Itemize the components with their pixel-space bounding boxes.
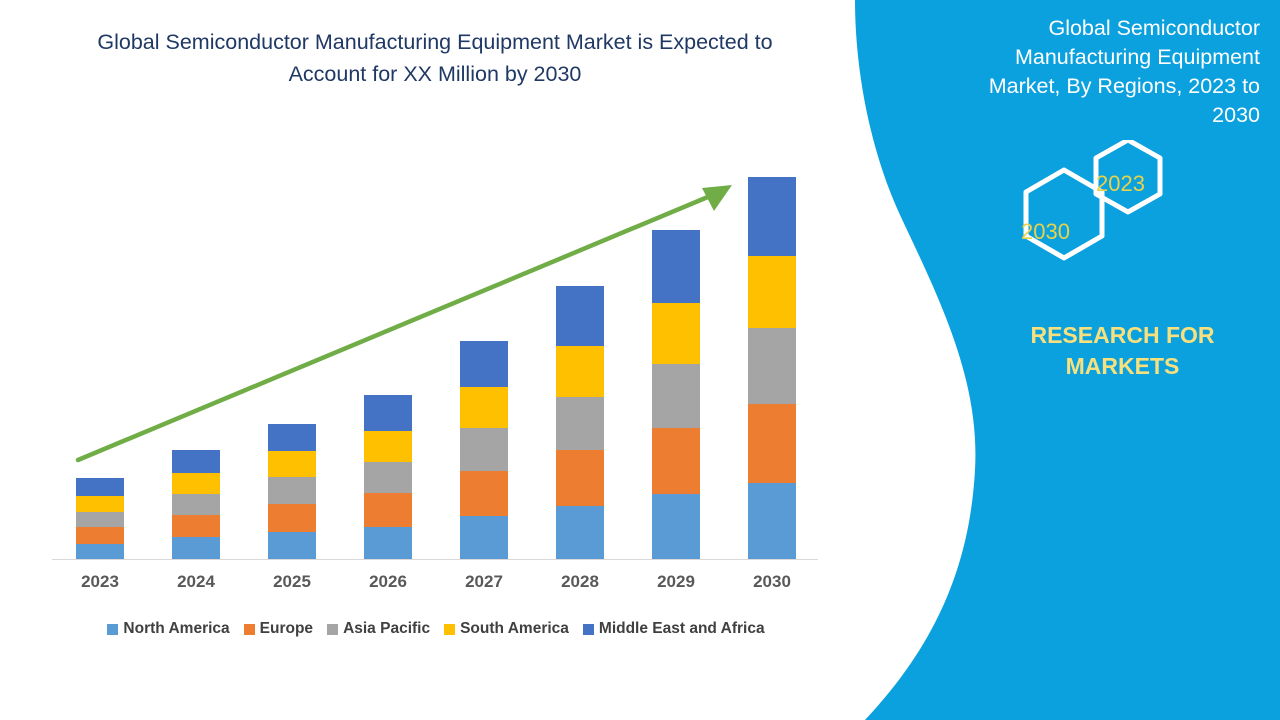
x-axis-labels: 20232024202520262027202820292030 (52, 572, 820, 600)
bar-segment[interactable] (268, 504, 316, 533)
bar-segment[interactable] (76, 527, 124, 543)
legend-item[interactable]: Europe (244, 620, 313, 638)
legend-item[interactable]: Middle East and Africa (583, 620, 765, 638)
bar-2027[interactable] (460, 341, 508, 560)
bar-segment[interactable] (364, 493, 412, 527)
bar-2023[interactable] (76, 478, 124, 560)
stacked-bar-chart (52, 150, 820, 560)
bar-segment[interactable] (268, 532, 316, 560)
bar-segment[interactable] (172, 494, 220, 515)
chart-legend: North AmericaEuropeAsia PacificSouth Ame… (52, 617, 820, 641)
bar-segment[interactable] (76, 496, 124, 511)
bar-segment[interactable] (460, 516, 508, 560)
bar-segment[interactable] (652, 230, 700, 303)
bar-segment[interactable] (460, 428, 508, 471)
bar-segment[interactable] (460, 341, 508, 387)
bar-segment[interactable] (748, 328, 796, 404)
x-axis-label-2028: 2028 (532, 572, 628, 592)
bar-segment[interactable] (76, 544, 124, 560)
bar-2026[interactable] (364, 395, 412, 560)
bar-2028[interactable] (556, 286, 604, 560)
hexagon-badges: 2030 2023 (980, 140, 1210, 300)
bar-segment[interactable] (556, 450, 604, 505)
legend-label: Middle East and Africa (599, 620, 765, 638)
bar-2025[interactable] (268, 424, 316, 560)
x-axis-label-2025: 2025 (244, 572, 340, 592)
brand-side-panel: Global Semiconductor Manufacturing Equip… (820, 0, 1280, 720)
bar-segment[interactable] (76, 512, 124, 527)
bar-2030[interactable] (748, 177, 796, 560)
bar-segment[interactable] (556, 346, 604, 397)
bar-segment[interactable] (172, 515, 220, 538)
bar-2029[interactable] (652, 230, 700, 560)
x-axis-label-2029: 2029 (628, 572, 724, 592)
bar-segment[interactable] (460, 387, 508, 428)
x-axis-label-2023: 2023 (52, 572, 148, 592)
legend-swatch-icon (583, 624, 594, 635)
bar-segment[interactable] (268, 451, 316, 477)
bar-segment[interactable] (268, 424, 316, 452)
bar-segment[interactable] (76, 478, 124, 496)
x-axis-line (52, 559, 818, 560)
x-axis-label-2027: 2027 (436, 572, 532, 592)
bar-segment[interactable] (748, 483, 796, 560)
bar-segment[interactable] (748, 256, 796, 329)
x-axis-label-2030: 2030 (724, 572, 820, 592)
x-axis-label-2026: 2026 (340, 572, 436, 592)
legend-label: South America (460, 620, 569, 638)
bar-segment[interactable] (652, 303, 700, 365)
bar-segment[interactable] (652, 494, 700, 560)
hexagon-outlines (980, 140, 1210, 300)
bar-segment[interactable] (364, 395, 412, 431)
bar-segment[interactable] (172, 473, 220, 495)
bar-segment[interactable] (364, 527, 412, 560)
legend-label: Asia Pacific (343, 620, 430, 638)
legend-label: Europe (260, 620, 313, 638)
bar-segment[interactable] (748, 177, 796, 256)
bar-segment[interactable] (556, 506, 604, 560)
bar-segment[interactable] (268, 477, 316, 504)
brand-name: RESEARCH FOR MARKETS (985, 320, 1260, 382)
hexagon-label-2023: 2023 (1096, 171, 1145, 197)
panel-title: Global Semiconductor Manufacturing Equip… (985, 14, 1260, 130)
bar-segment[interactable] (172, 450, 220, 473)
chart-title: Global Semiconductor Manufacturing Equip… (60, 26, 810, 90)
legend-item[interactable]: Asia Pacific (327, 620, 430, 638)
legend-label: North America (123, 620, 229, 638)
legend-item[interactable]: South America (444, 620, 569, 638)
legend-swatch-icon (444, 624, 455, 635)
bar-2024[interactable] (172, 450, 220, 560)
bar-segment[interactable] (364, 431, 412, 462)
bar-segment[interactable] (652, 428, 700, 495)
legend-swatch-icon (244, 624, 255, 635)
bar-segment[interactable] (460, 471, 508, 516)
slide-canvas: Global Semiconductor Manufacturing Equip… (0, 0, 1280, 720)
bar-segment[interactable] (556, 286, 604, 345)
x-axis-label-2024: 2024 (148, 572, 244, 592)
bar-segment[interactable] (364, 462, 412, 494)
legend-swatch-icon (327, 624, 338, 635)
bar-segment[interactable] (172, 537, 220, 560)
bar-segment[interactable] (556, 397, 604, 450)
bar-segment[interactable] (748, 404, 796, 483)
legend-swatch-icon (107, 624, 118, 635)
legend-item[interactable]: North America (107, 620, 229, 638)
hexagon-label-2030: 2030 (1021, 219, 1070, 245)
bar-segment[interactable] (652, 364, 700, 428)
